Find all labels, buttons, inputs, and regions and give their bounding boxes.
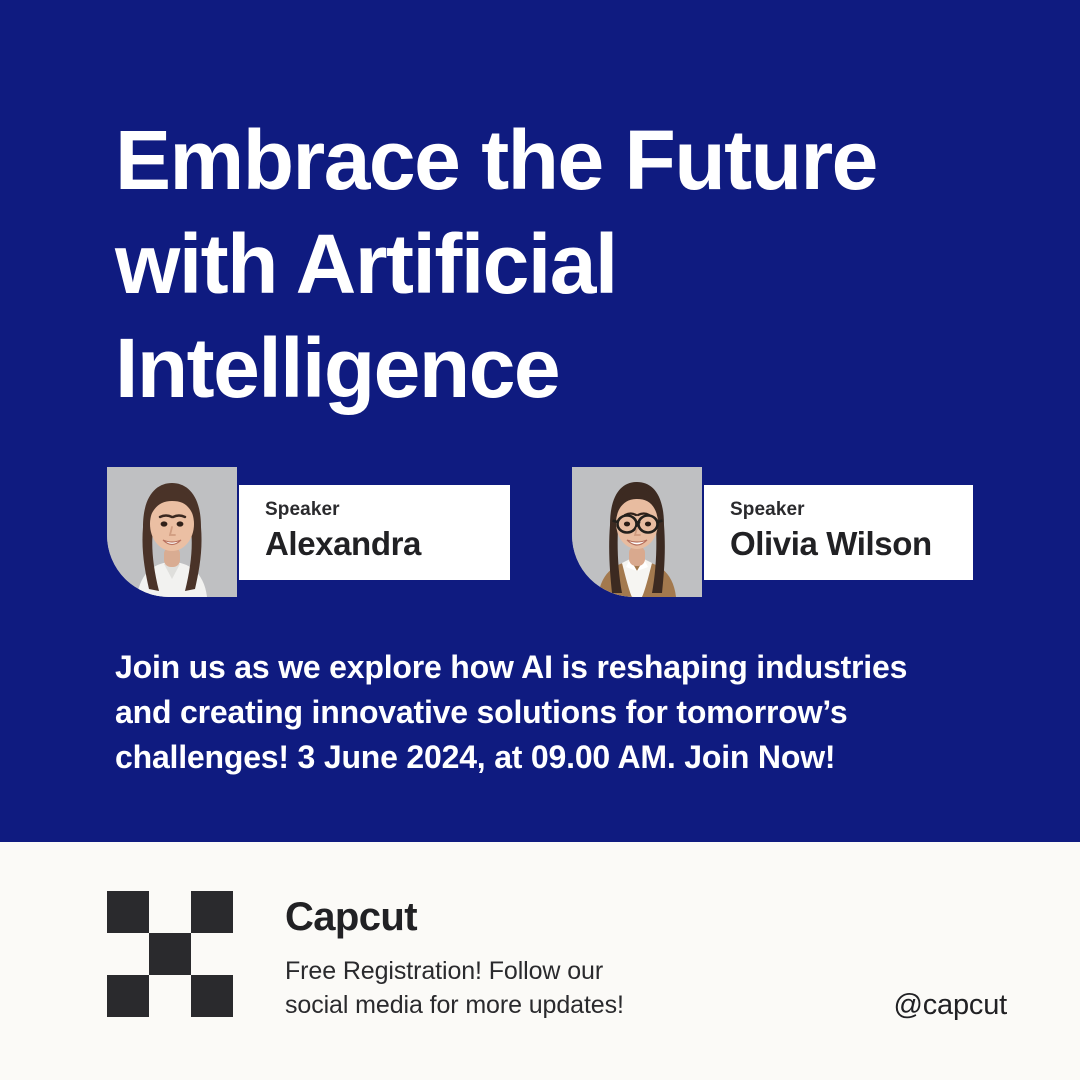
headline-line-1: Embrace the Future: [115, 108, 1015, 212]
logo-cell-3: [191, 891, 233, 933]
speaker-card-alexandra[interactable]: Speaker Alexandra: [107, 467, 510, 599]
brand-tagline: Free Registration! Follow our social med…: [285, 954, 755, 1022]
logo-cell-6: [191, 933, 233, 975]
speaker-role: Speaker: [730, 499, 973, 521]
headline-line-3: Intelligence: [115, 316, 1015, 420]
tagline-line-1: Free Registration! Follow our: [285, 954, 755, 988]
brand-name: Capcut: [285, 893, 755, 941]
logo-cell-7: [107, 975, 149, 1017]
speaker-label-olivia-wilson: Speaker Olivia Wilson: [704, 485, 973, 580]
logo-cell-1: [107, 891, 149, 933]
social-handle[interactable]: @capcut: [894, 988, 1007, 1022]
headline-line-2: with Artificial: [115, 212, 1015, 316]
speaker-list: Speaker Alexandra: [107, 467, 987, 599]
brand-block: Capcut Free Registration! Follow our soc…: [285, 893, 755, 1022]
blurb-line-2: and creating innovative solutions for to…: [115, 690, 995, 735]
logo-cell-5: [149, 933, 191, 975]
tagline-line-2: social media for more updates!: [285, 988, 755, 1022]
logo-cell-4: [107, 933, 149, 975]
speaker-name: Olivia Wilson: [730, 523, 973, 565]
logo-cell-9: [191, 975, 233, 1017]
speaker-label-alexandra: Speaker Alexandra: [239, 485, 510, 580]
speaker-photo-olivia-wilson: [572, 467, 702, 597]
page-title: Embrace the Future with Artificial Intel…: [115, 108, 1015, 420]
logo-cell-2: [149, 891, 191, 933]
checkerboard-x-logo-icon: [107, 891, 233, 1017]
blurb-line-3: challenges! 3 June 2024, at 09.00 AM. Jo…: [115, 735, 995, 780]
blurb-line-1: Join us as we explore how AI is reshapin…: [115, 645, 995, 690]
speaker-card-olivia-wilson[interactable]: Speaker Olivia Wilson: [572, 467, 973, 599]
logo-cell-8: [149, 975, 191, 1017]
hero-section: Embrace the Future with Artificial Intel…: [0, 0, 1080, 842]
speaker-photo-alexandra: [107, 467, 237, 597]
speaker-role: Speaker: [265, 499, 510, 521]
speaker-name: Alexandra: [265, 523, 510, 565]
event-poster: Embrace the Future with Artificial Intel…: [0, 0, 1080, 1080]
event-description: Join us as we explore how AI is reshapin…: [115, 645, 995, 780]
